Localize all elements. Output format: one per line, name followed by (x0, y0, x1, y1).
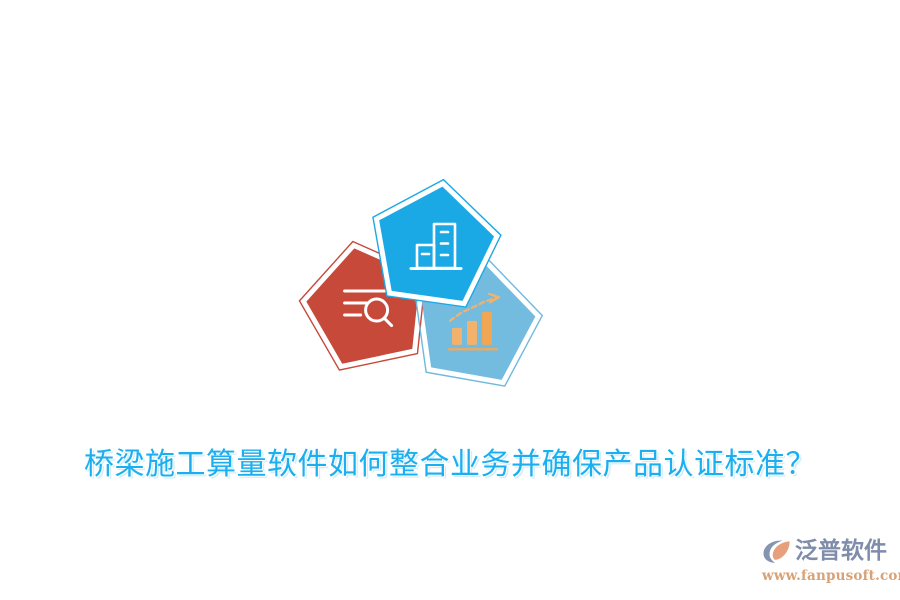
brand-name: 泛普软件 (795, 537, 887, 565)
chart-bar-3 (482, 312, 492, 345)
chart-bar-1 (452, 328, 462, 345)
fanpu-logo-icon (762, 537, 792, 565)
page-title: 桥梁施工算量软件如何整合业务并确保产品认证标准？ (84, 444, 816, 486)
chart-bar-2 (467, 321, 477, 345)
hero-graphic (295, 175, 545, 390)
brand-logo-row: 泛普软件 (762, 535, 894, 567)
page-canvas: 桥梁施工算量软件如何整合业务并确保产品认证标准？ 泛普软件 www.fanpus… (0, 0, 900, 600)
pentagon-cluster-svg (295, 175, 545, 390)
brand-watermark: 泛普软件 www.fanpusoft.com (762, 535, 894, 587)
title-container: 桥梁施工算量软件如何整合业务并确保产品认证标准？ (0, 424, 900, 506)
brand-url: www.fanpusoft.com (762, 568, 894, 584)
